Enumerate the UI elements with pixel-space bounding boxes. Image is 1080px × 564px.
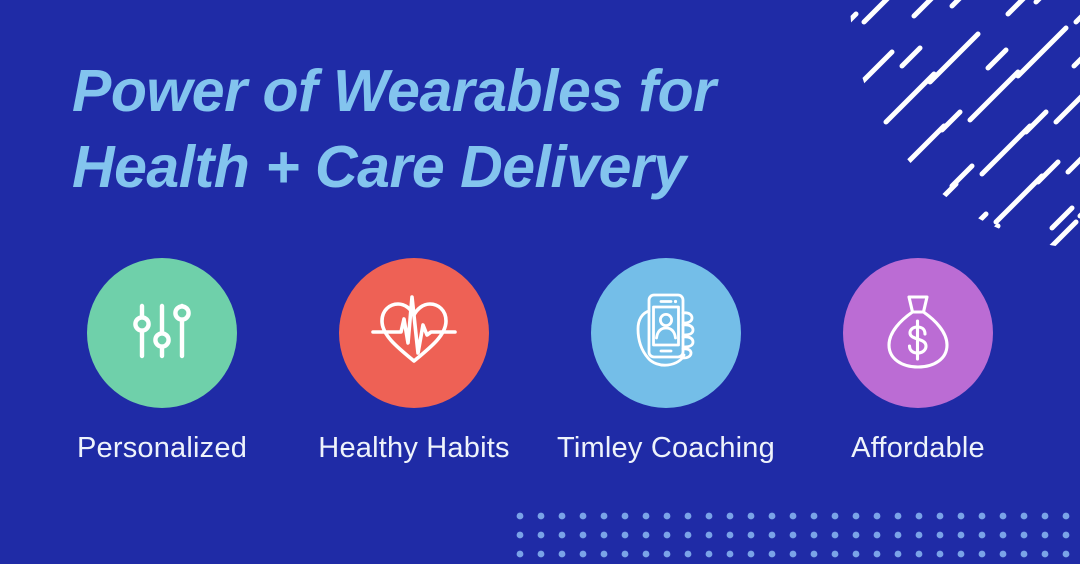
page-title: Power of Wearables for Health + Care Del… — [72, 54, 812, 205]
feature-icon-circle — [339, 258, 489, 408]
feature-label: Personalized — [77, 432, 247, 465]
feature-icon-circle — [87, 258, 237, 408]
diagonal-dash-pattern — [830, 0, 1080, 260]
feature-item-timely-coaching[interactable]: Timley Coaching — [540, 258, 792, 465]
sliders-icon — [124, 293, 200, 374]
feature-row: Personalized Healthy Habits — [0, 258, 1080, 465]
hand-holding-phone-icon — [626, 289, 706, 378]
dot-grid-pattern — [516, 512, 1080, 564]
feature-item-affordable[interactable]: Affordable — [792, 258, 1044, 465]
feature-item-healthy-habits[interactable]: Healthy Habits — [288, 258, 540, 465]
infographic-poster: Power of Wearables for Health + Care Del… — [0, 0, 1080, 564]
feature-icon-circle — [591, 258, 741, 408]
feature-icon-circle — [843, 258, 993, 408]
heart-pulse-icon — [371, 291, 457, 376]
feature-item-personalized[interactable]: Personalized — [36, 258, 288, 465]
money-bag-icon — [879, 290, 957, 377]
feature-label: Healthy Habits — [318, 432, 509, 465]
feature-label: Affordable — [851, 432, 985, 465]
feature-label: Timley Coaching — [557, 432, 775, 465]
